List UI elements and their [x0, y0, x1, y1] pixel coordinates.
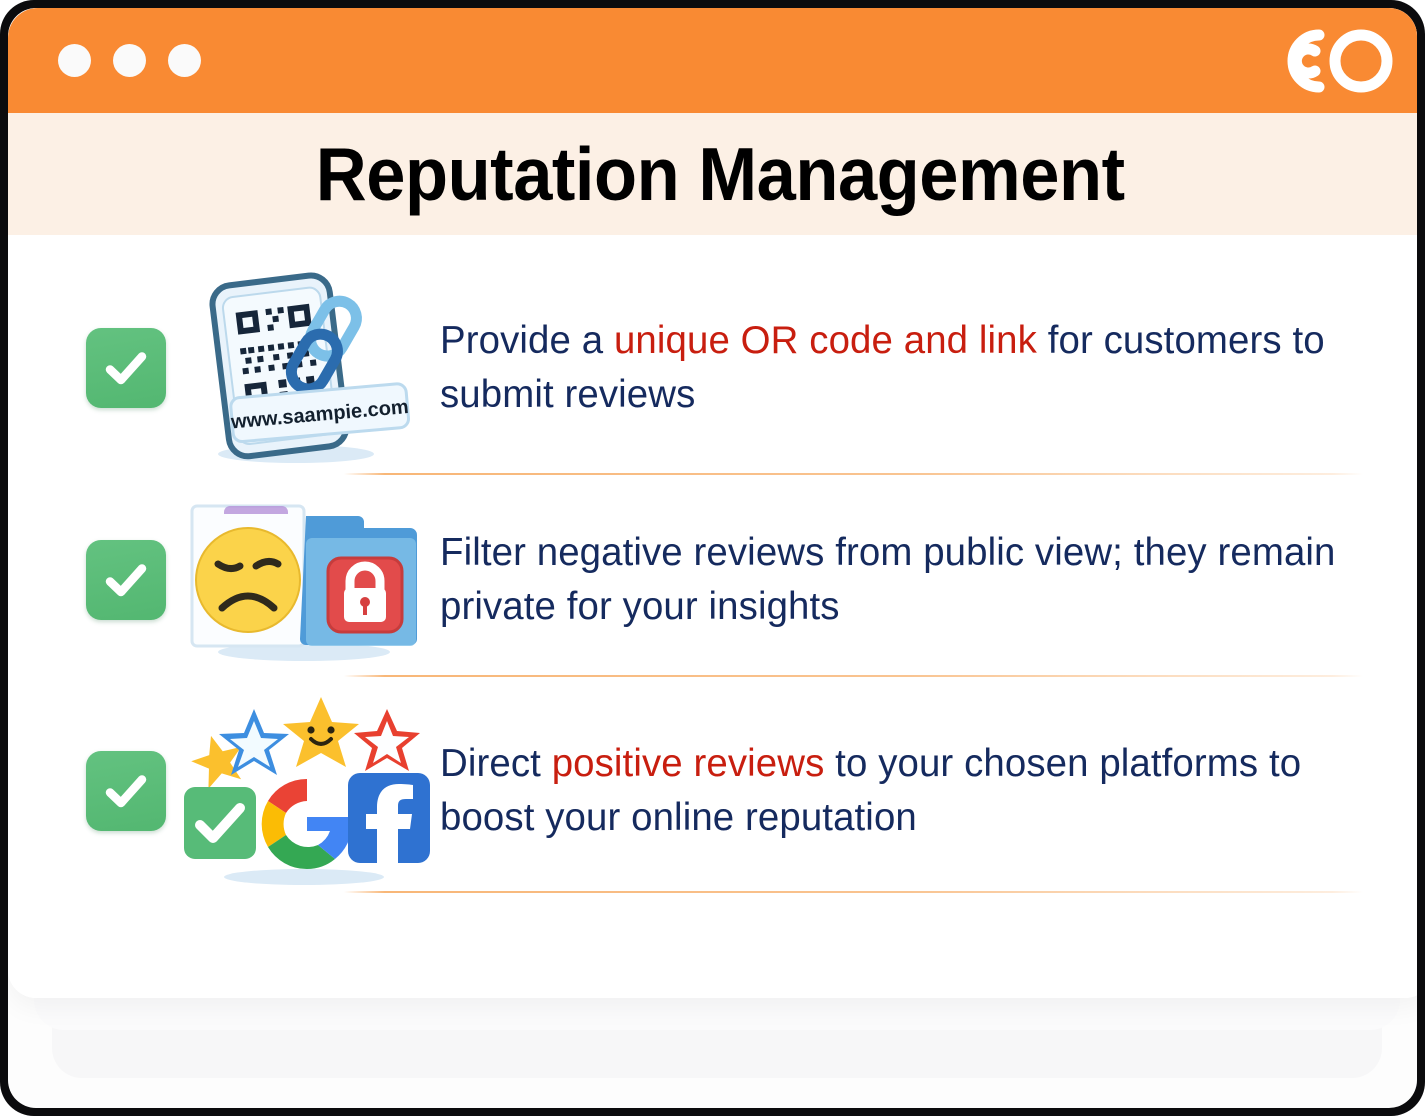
- qr-phone-link-illustration: www.saampie.com: [178, 268, 430, 468]
- text-part: Provide a: [440, 319, 614, 362]
- star-yellow-smiling: [283, 697, 359, 767]
- row-divider: [344, 675, 1363, 677]
- text-highlight: unique OR code and link: [614, 319, 1037, 362]
- page-title: Reputation Management: [316, 137, 1125, 212]
- screenshot-frame: Reputation Management: [0, 0, 1425, 1116]
- window-dot-minimize-icon[interactable]: [113, 44, 146, 77]
- list-item-text: Filter negative reviews from public view…: [440, 526, 1417, 634]
- window-dot-maximize-icon[interactable]: [168, 44, 201, 77]
- stars-google-facebook-illustration: [178, 691, 430, 891]
- text-highlight: positive reviews: [552, 742, 825, 785]
- sad-face-locked-folder-illustration: [178, 480, 430, 680]
- check-icon: [86, 540, 166, 620]
- page-background: Reputation Management: [8, 8, 1417, 1108]
- list-item: www.saampie.com Provide a unique OR code…: [8, 263, 1417, 473]
- browser-titlebar: [8, 8, 1417, 113]
- facebook-logo-icon: [348, 773, 430, 863]
- browser-window-card: Reputation Management: [8, 8, 1417, 998]
- text-part: Filter negative reviews from public view…: [440, 531, 1336, 628]
- list-item: Filter negative reviews from public view…: [8, 487, 1417, 672]
- list-item-text: Direct positive reviews to your chosen p…: [440, 737, 1417, 845]
- google-logo-icon: [262, 778, 352, 868]
- check-icon: [86, 328, 166, 408]
- green-check-tile: [184, 787, 256, 859]
- headline-band: Reputation Management: [8, 113, 1417, 235]
- list-item: Direct positive reviews to your chosen p…: [8, 693, 1417, 888]
- window-controls: [58, 44, 201, 77]
- list-item-text: Provide a unique OR code and link for cu…: [440, 314, 1417, 422]
- star-red: [354, 709, 420, 771]
- row-divider: [344, 473, 1363, 475]
- window-dot-close-icon[interactable]: [58, 44, 91, 77]
- brand-logo-co-icon: [1285, 29, 1397, 93]
- content-area: www.saampie.com Provide a unique OR code…: [8, 235, 1417, 998]
- text-part: Direct: [440, 742, 552, 785]
- row-divider: [344, 891, 1363, 893]
- check-icon: [86, 751, 166, 831]
